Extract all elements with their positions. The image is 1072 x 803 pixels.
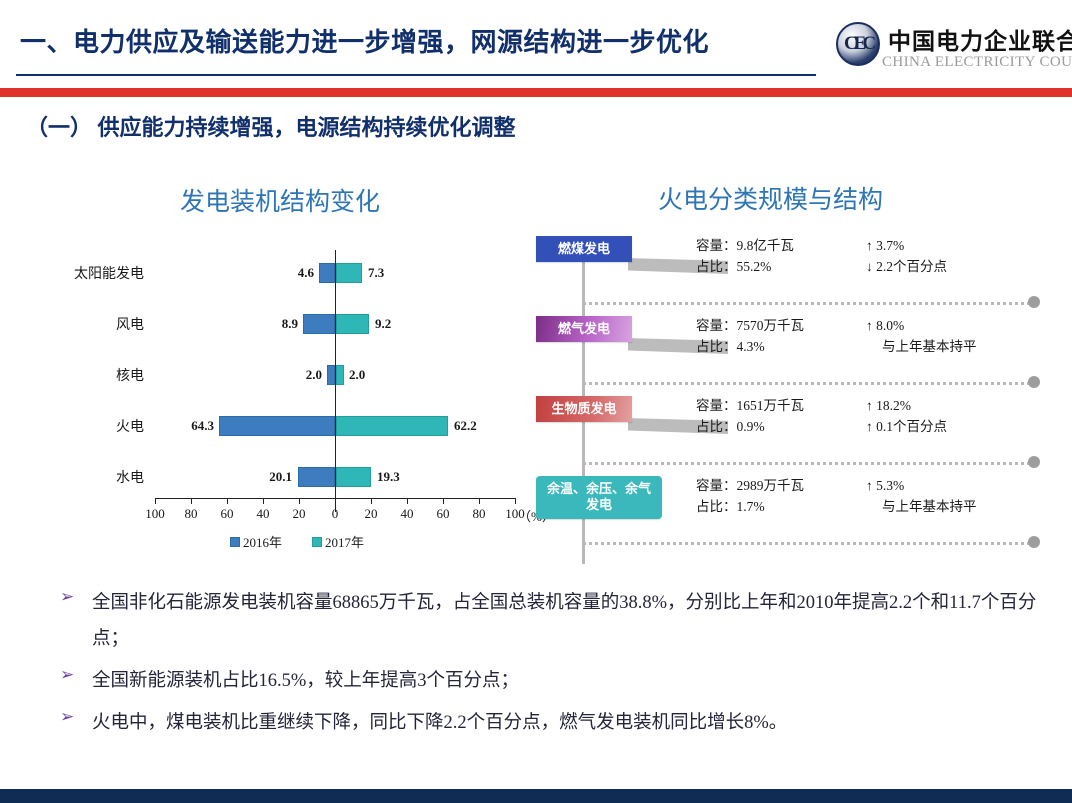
row-endpoint-dot-icon (1028, 456, 1040, 468)
legend-swatch-icon (230, 537, 240, 547)
installed-capacity-tornado-chart: 太阳能发电 4.6 7.3 风电 8.9 9.2 核电 2.0 2.0 火电 (60, 250, 530, 550)
x-tick (479, 498, 480, 504)
value-2017: 19.3 (377, 469, 400, 485)
x-tick-label: 80 (473, 506, 486, 522)
chart-row: 火电 64.3 62.2 (60, 409, 530, 443)
cec-seal-glyph: CEC (838, 24, 878, 64)
value-2017: 2.0 (349, 367, 365, 383)
organization-logo: CEC 中国电力企业联合会 CHINA ELECTRICITY COUNCIL (836, 18, 1064, 80)
x-tick (371, 498, 372, 504)
share-change-text: ↓ 2.2个百分点 (866, 257, 947, 278)
x-tick-label: 40 (257, 506, 270, 522)
row-change: ↑ 18.2% ↑ 0.1个百分点 (866, 396, 947, 438)
bullet-list: ➢ 全国非化石能源发电装机容量68865万千瓦，占全国总装机容量的38.8%，分… (52, 585, 1052, 747)
row-capacity: 容量：1651万千瓦 占比：0.9% (696, 396, 804, 438)
x-tick-label: 100 (145, 506, 165, 522)
share-text: 占比：4.3% (696, 337, 804, 358)
value-2017: 7.3 (368, 265, 384, 281)
bullet-arrow-icon: ➢ (60, 587, 74, 607)
bullet-text: 全国非化石能源发电装机容量68865万千瓦，占全国总装机容量的38.8%，分别比… (92, 593, 1036, 649)
category-label: 火电 (60, 416, 144, 436)
chart-row: 水电 20.1 19.3 (60, 460, 530, 494)
x-tick (155, 498, 156, 504)
x-tick-label: 20 (365, 506, 378, 522)
share-text: 占比：0.9% (696, 417, 804, 438)
list-item: ➢ 全国新能源装机占比16.5%，较上年提高3个百分点； (52, 663, 1052, 699)
bar-2017 (336, 467, 371, 487)
bar-2016 (319, 263, 335, 283)
capacity-text: 容量：2989万千瓦 (696, 476, 804, 497)
x-tick-label: 0 (332, 506, 339, 522)
share-change-text: 与上年基本持平 (866, 337, 977, 358)
chart-row: 太阳能发电 4.6 7.3 (60, 256, 530, 290)
slide-header: 一、电力供应及输送能力进一步增强，网源结构进一步优化 CEC 中国电力企业联合会… (0, 0, 1072, 97)
x-tick-label: 80 (185, 506, 198, 522)
cec-seal-icon: CEC (836, 22, 880, 66)
thermal-power-breakdown-diagram: 燃煤发电 容量：9.8亿千瓦 占比：55.2% ↑ 3.7% ↓ 2.2个百分点… (528, 232, 1066, 562)
legend-item-2016: 2016年 (230, 532, 282, 551)
left-chart-heading: 发电装机结构变化 (180, 182, 380, 218)
value-2016: 2.0 (306, 367, 322, 383)
bar-2017 (336, 263, 362, 283)
share-change-text: ↑ 0.1个百分点 (866, 417, 947, 438)
row-dotted-connector (583, 302, 1030, 305)
row-capacity: 容量：9.8亿千瓦 占比：55.2% (696, 236, 794, 278)
row-endpoint-dot-icon (1028, 536, 1040, 548)
x-tick (515, 498, 516, 504)
logo-name-cn: 中国电力企业联合会 (888, 22, 1072, 56)
bar-2016 (298, 467, 335, 487)
logo-name-en: CHINA ELECTRICITY COUNCIL (882, 54, 1072, 71)
row-endpoint-dot-icon (1028, 376, 1040, 388)
category-chip-coal: 燃煤发电 (536, 236, 632, 262)
bar-2017 (336, 365, 344, 385)
x-tick (299, 498, 300, 504)
chart-row: 风电 8.9 9.2 (60, 307, 530, 341)
bullet-arrow-icon: ➢ (60, 665, 74, 685)
category-chip-gas: 燃气发电 (536, 316, 632, 342)
chart-zero-axis (335, 250, 336, 512)
x-tick-label: 40 (401, 506, 414, 522)
category-label: 水电 (60, 467, 144, 487)
share-text: 占比：55.2% (696, 257, 794, 278)
row-change: ↑ 5.3% 与上年基本持平 (866, 476, 977, 518)
capacity-text: 容量：7570万千瓦 (696, 316, 804, 337)
section-subtitle: （一） 供应能力持续增强，电源结构持续优化调整 (26, 110, 516, 142)
row-dotted-connector (583, 542, 1030, 545)
breakdown-row: 燃气发电 容量：7570万千瓦 占比：4.3% ↑ 8.0% 与上年基本持平 (528, 312, 1066, 392)
legend-label: 2016年 (243, 532, 282, 551)
title-underline (16, 74, 816, 76)
value-2016: 20.1 (269, 469, 292, 485)
capacity-change-text: ↑ 3.7% (866, 236, 947, 257)
x-tick (191, 498, 192, 504)
bar-2017 (336, 416, 448, 436)
row-endpoint-dot-icon (1028, 296, 1040, 308)
legend-swatch-icon (312, 537, 322, 547)
chart-legend: 2016年 2017年 (230, 532, 364, 551)
slide-footer-bar (0, 789, 1072, 803)
x-tick (263, 498, 264, 504)
row-capacity: 容量：2989万千瓦 占比：1.7% (696, 476, 804, 518)
capacity-change-text: ↑ 8.0% (866, 316, 977, 337)
category-chip-waste-heat: 余温、余压、余气 发电 (536, 476, 662, 519)
legend-label: 2017年 (325, 532, 364, 551)
legend-item-2017: 2017年 (312, 532, 364, 551)
x-tick-label: 20 (293, 506, 306, 522)
category-chip-biomass: 生物质发电 (536, 396, 632, 422)
share-change-text: 与上年基本持平 (866, 497, 977, 518)
row-dotted-connector (583, 382, 1030, 385)
bar-2016 (327, 365, 335, 385)
capacity-change-text: ↑ 18.2% (866, 396, 947, 417)
bar-2017 (336, 314, 369, 334)
x-tick-label: 60 (221, 506, 234, 522)
value-2017: 62.2 (454, 418, 477, 434)
category-label: 太阳能发电 (60, 263, 144, 283)
value-2016: 4.6 (298, 265, 314, 281)
page-title: 一、电力供应及输送能力进一步增强，网源结构进一步优化 (20, 22, 709, 59)
category-label: 核电 (60, 365, 144, 385)
value-2016: 64.3 (191, 418, 214, 434)
row-change: ↑ 8.0% 与上年基本持平 (866, 316, 977, 358)
x-tick (335, 498, 336, 504)
capacity-change-text: ↑ 5.3% (866, 476, 977, 497)
right-diagram-heading: 火电分类规模与结构 (658, 180, 883, 216)
row-change: ↑ 3.7% ↓ 2.2个百分点 (866, 236, 947, 278)
list-item: ➢ 全国非化石能源发电装机容量68865万千瓦，占全国总装机容量的38.8%，分… (52, 585, 1052, 657)
breakdown-row: 燃煤发电 容量：9.8亿千瓦 占比：55.2% ↑ 3.7% ↓ 2.2个百分点 (528, 232, 1066, 312)
bullet-arrow-icon: ➢ (60, 707, 74, 727)
capacity-text: 容量：1651万千瓦 (696, 396, 804, 417)
bullet-text: 火电中，煤电装机比重继续下降，同比下降2.2个百分点，燃气发电装机同比增长8%。 (92, 713, 787, 733)
x-tick-label: 60 (437, 506, 450, 522)
value-2017: 9.2 (375, 316, 391, 332)
x-tick (407, 498, 408, 504)
value-2016: 8.9 (282, 316, 298, 332)
share-text: 占比：1.7% (696, 497, 804, 518)
bar-2016 (303, 314, 335, 334)
x-tick (443, 498, 444, 504)
row-capacity: 容量：7570万千瓦 占比：4.3% (696, 316, 804, 358)
category-label: 风电 (60, 314, 144, 334)
breakdown-row: 生物质发电 容量：1651万千瓦 占比：0.9% ↑ 18.2% ↑ 0.1个百… (528, 392, 1066, 472)
row-dotted-connector (583, 462, 1030, 465)
chart-row: 核电 2.0 2.0 (60, 358, 530, 392)
list-item: ➢ 火电中，煤电装机比重继续下降，同比下降2.2个百分点，燃气发电装机同比增长8… (52, 705, 1052, 741)
breakdown-row: 余温、余压、余气 发电 容量：2989万千瓦 占比：1.7% ↑ 5.3% 与上… (528, 472, 1066, 552)
header-red-divider (0, 88, 1072, 97)
bullet-text: 全国新能源装机占比16.5%，较上年提高3个百分点； (92, 671, 519, 691)
x-tick (227, 498, 228, 504)
capacity-text: 容量：9.8亿千瓦 (696, 236, 794, 257)
bar-2016 (219, 416, 335, 436)
